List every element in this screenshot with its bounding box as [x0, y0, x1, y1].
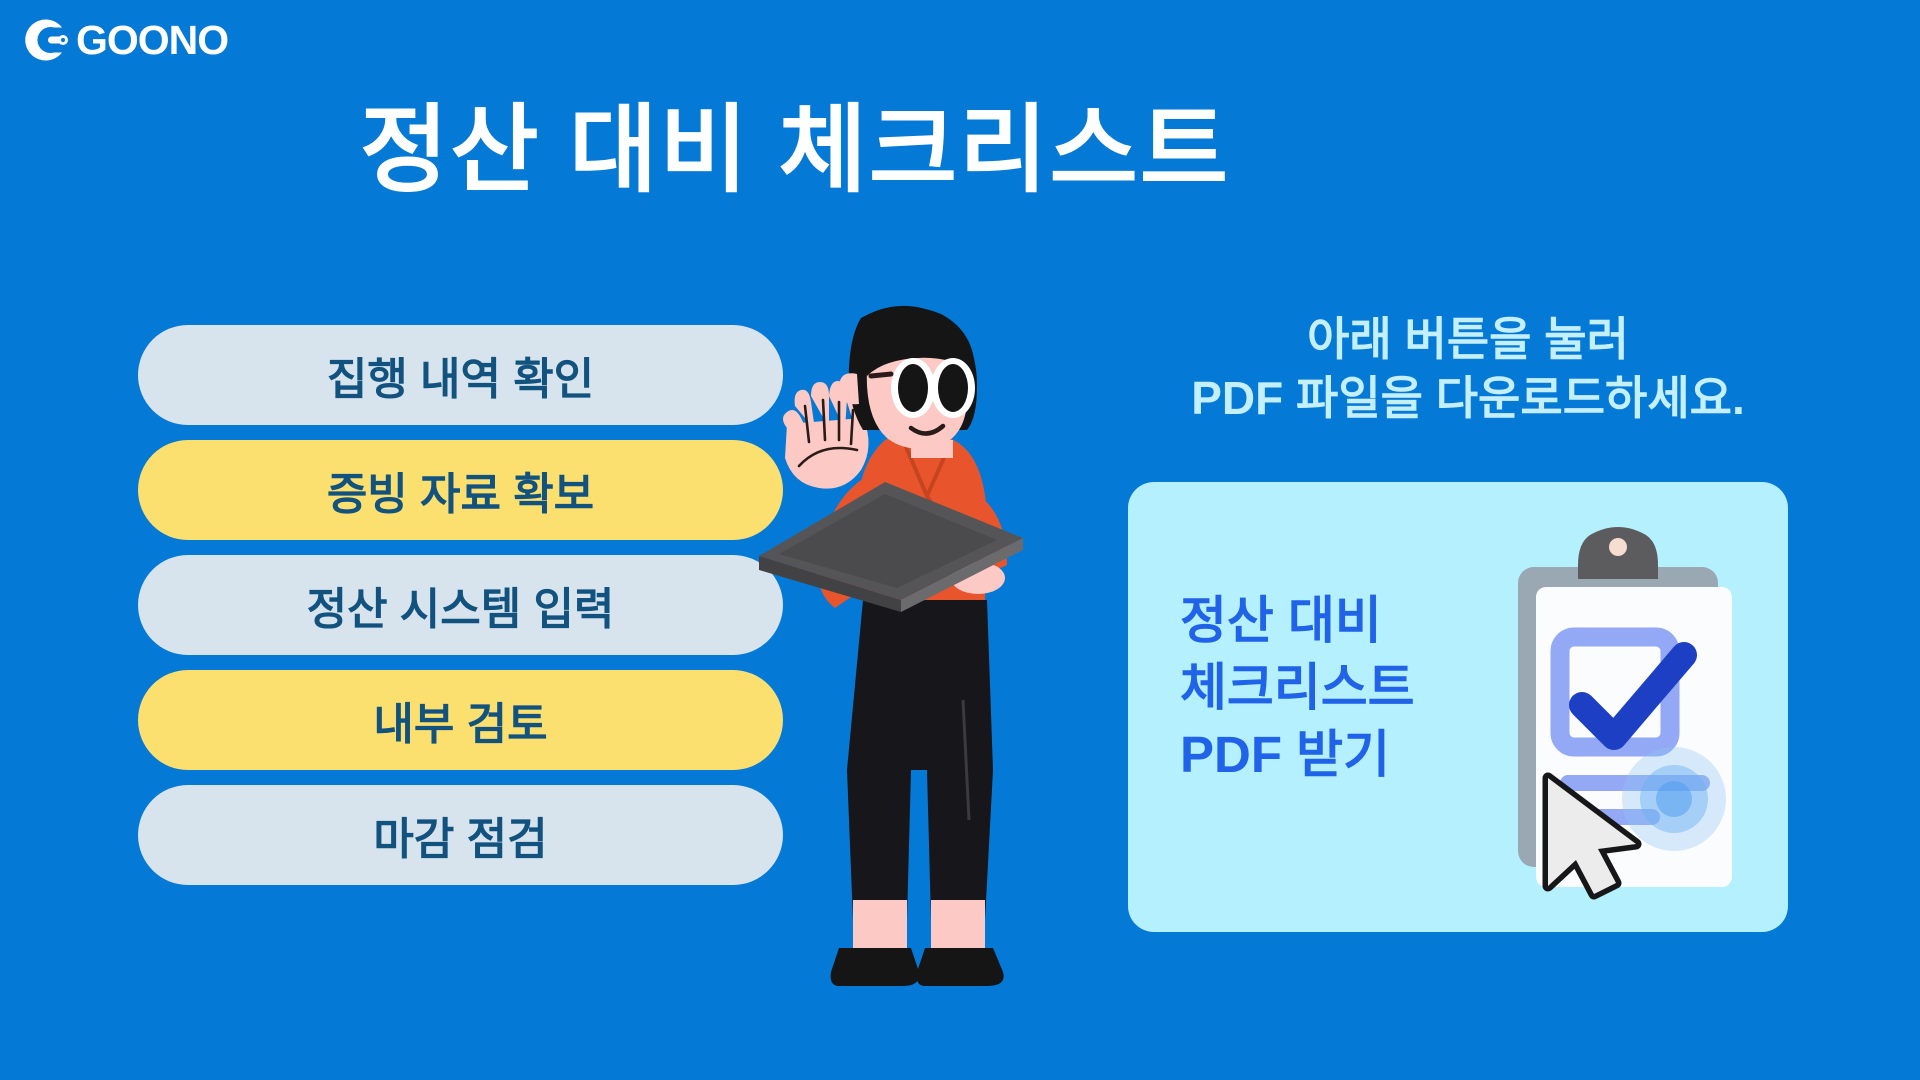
- goono-c-mark-icon: [18, 14, 70, 66]
- cta-line-2: 체크리스트: [1180, 654, 1480, 721]
- checklist-item-label: 정산 시스템 입력: [307, 573, 615, 637]
- pdf-download-label: 정산 대비 체크리스트 PDF 받기: [1180, 587, 1480, 789]
- brand-logo[interactable]: GOONO: [18, 14, 228, 66]
- waving-woman-with-laptop-illustration: [735, 300, 1045, 1000]
- cta-line-1: 정산 대비: [1180, 587, 1480, 654]
- checklist-item-label: 집행 내역 확인: [327, 343, 594, 407]
- checklist-item-2[interactable]: 증빙 자료 확보: [138, 440, 783, 540]
- checklist-item-5[interactable]: 마감 점검: [138, 785, 783, 885]
- instruction-line-2: PDF 파일을 다운로드하세요.: [1128, 369, 1808, 428]
- checklist-pill-group: 집행 내역 확인 증빙 자료 확보 정산 시스템 입력 내부 검토 마감 점검: [138, 325, 783, 885]
- checklist-item-3[interactable]: 정산 시스템 입력: [138, 555, 783, 655]
- checklist-item-4[interactable]: 내부 검토: [138, 670, 783, 770]
- checklist-item-1[interactable]: 집행 내역 확인: [138, 325, 783, 425]
- mouse-pointer-icon: [1538, 770, 1648, 905]
- instruction-line-1: 아래 버튼을 눌러: [1128, 310, 1808, 369]
- download-instruction-text: 아래 버튼을 눌러 PDF 파일을 다운로드하세요.: [1128, 310, 1808, 428]
- page-title: 정산 대비 체크리스트: [0, 72, 1590, 211]
- pdf-download-card[interactable]: 정산 대비 체크리스트 PDF 받기: [1128, 482, 1788, 932]
- checklist-item-label: 내부 검토: [373, 688, 547, 752]
- cta-line-3: PDF 받기: [1180, 721, 1480, 788]
- right-panel: 아래 버튼을 눌러 PDF 파일을 다운로드하세요. 정산 대비 체크리스트 P…: [1128, 310, 1808, 932]
- checklist-item-label: 마감 점검: [373, 803, 547, 867]
- brand-logo-text: GOONO: [76, 20, 228, 61]
- checklist-item-label: 증빙 자료 확보: [327, 458, 594, 522]
